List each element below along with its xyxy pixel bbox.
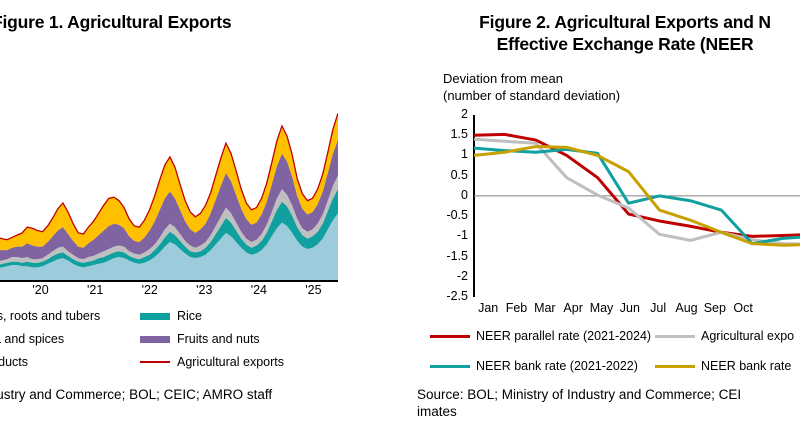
figure-2-legend-item: NEER bank rate	[655, 357, 791, 375]
figure-2-title-line-1: Figure 2. Agricultural Exports and N	[440, 12, 800, 33]
legend-line-swatch-icon	[430, 365, 470, 368]
figure-2-y-tick-05: 0.5	[438, 169, 468, 182]
figure-1-x-tick-22: '22	[136, 283, 164, 297]
figure-1-legend-item: ea and spices	[0, 330, 64, 348]
figure-2-source-note: Source: BOL; Ministry of Industry and Co…	[417, 386, 800, 420]
figure-2-source-line-2: imates	[417, 403, 800, 420]
figure-2-title: Figure 2. Agricultural Exports and N Eff…	[440, 12, 800, 55]
figure-2-y-tick-1: -1	[438, 229, 468, 242]
legend-swatch-icon	[140, 361, 170, 363]
figure-2-chart-plot	[474, 115, 800, 297]
figure-1-legend-item: Fruits and nuts	[140, 330, 260, 348]
figure-1-legend-label: Agricultural exports	[177, 355, 284, 369]
figure-1-source-note: y of Industry and Commerce; BOL; CEIC; A…	[0, 386, 272, 403]
figure-2-x-tick-oct: Oct	[726, 301, 760, 315]
figure-2-legend-label: NEER parallel rate (2021-2024)	[476, 329, 651, 343]
figure-1-x-axis-line	[0, 280, 338, 282]
figure-1-title: Figure 1. Agricultural Exports	[0, 12, 231, 33]
figure-1-stacked-area-svg	[0, 96, 338, 280]
figure-1-legend-label: les, roots and tubers	[0, 309, 100, 323]
figure-2-line-svg	[474, 115, 800, 297]
figure-2-y-tick-2: -2	[438, 270, 468, 283]
figure-2-y-tick-15: -1.5	[438, 250, 468, 263]
figure-2-y-axis-caption: Deviation from mean (number of standard …	[443, 70, 620, 104]
figure-2-legend-item: NEER parallel rate (2021-2024)	[430, 327, 651, 345]
figure-2-legend-item: NEER bank rate (2021-2022)	[430, 357, 638, 375]
figure-2-legend-label: NEER bank rate	[701, 359, 791, 373]
figure-1-legend-item: les, roots and tubers	[0, 307, 100, 325]
figure-2-panel: Figure 2. Agricultural Exports and N Eff…	[400, 0, 800, 433]
figure-2-y-tick-1: 1	[438, 148, 468, 161]
figure-1-legend-label: roducts	[0, 355, 28, 369]
figure-1-chart-plot	[0, 96, 338, 280]
figure-2-y-tick-25: -2.5	[438, 290, 468, 303]
figure-2-line-agricultural-exports	[474, 139, 800, 244]
figure-2-y-tick-0: 0	[438, 189, 468, 202]
figure-1-legend-item: roducts	[0, 353, 28, 371]
figure-1-panel: Figure 1. Agricultural Exports '19'20'21…	[0, 0, 400, 433]
figure-1-x-tick-20: '20	[27, 283, 55, 297]
figure-2-y-tick-15: 1.5	[438, 128, 468, 141]
legend-swatch-icon	[140, 336, 170, 343]
legend-swatch-icon	[140, 313, 170, 320]
figure-1-legend-label: Fruits and nuts	[177, 332, 260, 346]
legend-line-swatch-icon	[655, 335, 695, 338]
figure-2-y-tick-2: 2	[438, 108, 468, 121]
figure-1-x-tick-24: '24	[245, 283, 273, 297]
figure-1-legend-label: ea and spices	[0, 332, 64, 346]
figure-2-title-line-2: Effective Exchange Rate (NEER	[440, 34, 800, 55]
legend-line-swatch-icon	[655, 365, 695, 368]
figure-1-x-tick-23: '23	[190, 283, 218, 297]
figure-1-legend-label: Rice	[177, 309, 202, 323]
figure-1-x-tick-21: '21	[81, 283, 109, 297]
figure-2-source-line-1: Source: BOL; Ministry of Industry and Co…	[417, 386, 800, 403]
figure-2-y-axis-caption-line-2: (number of standard deviation)	[443, 87, 620, 104]
figure-1-legend-item: Agricultural exports	[140, 353, 284, 371]
figure-2-y-tick-05: -0.5	[438, 209, 468, 222]
figure-1-legend-item: Rice	[140, 307, 202, 325]
legend-line-swatch-icon	[430, 335, 470, 338]
figure-2-y-axis-caption-line-1: Deviation from mean	[443, 70, 620, 87]
figure-2-legend-label: Agricultural expo	[701, 329, 794, 343]
figure-2-legend-item: Agricultural expo	[655, 327, 794, 345]
figure-1-x-tick-25: '25	[299, 283, 327, 297]
figure-2-legend-label: NEER bank rate (2021-2022)	[476, 359, 638, 373]
